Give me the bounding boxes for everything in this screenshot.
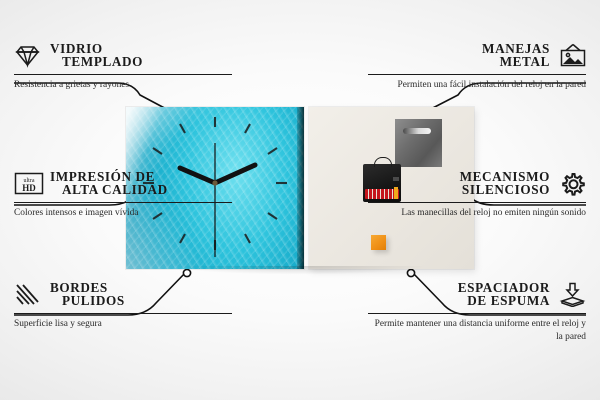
divider <box>14 202 232 203</box>
divider <box>368 313 586 314</box>
feature-vidrio: VIDRIO TEMPLADO Resistencia a grietas y … <box>14 42 232 92</box>
picture-frame-icon <box>559 43 586 68</box>
feature-title-line1: IMPRESIÓN DE <box>50 170 155 183</box>
feature-title-line2: SILENCIOSO <box>462 183 550 196</box>
feature-title-line1: BORDES <box>50 281 108 294</box>
feature-title-line1: MANEJAS <box>482 42 550 55</box>
gear-icon <box>559 171 586 196</box>
foam-spacer <box>371 235 386 250</box>
divider <box>14 74 232 75</box>
diamond-icon <box>14 43 41 68</box>
feature-espaciador: ESPACIADOR DE ESPUMA Permite mantener un… <box>368 281 586 343</box>
feature-description: Resistencia a grietas y rayones <box>14 79 232 91</box>
feature-description: Superficie lisa y segura <box>14 318 232 330</box>
feature-manejas: MANEJAS METAL Permiten una fácil instala… <box>368 42 586 92</box>
polished-edges-icon <box>14 282 41 307</box>
feature-title-line1: ESPACIADOR <box>458 281 550 294</box>
foam-spacer-icon <box>559 282 586 307</box>
movement-loop <box>374 157 392 167</box>
feature-title-line2: METAL <box>500 55 550 68</box>
feature-description: Permite mantener una distancia uniforme … <box>368 318 586 343</box>
feature-title-line1: MECANISMO <box>460 170 550 183</box>
divider <box>368 202 586 203</box>
divider <box>368 74 586 75</box>
feature-title-line2: PULIDOS <box>50 294 125 307</box>
feature-description: Colores intensos e imagen vívida <box>14 207 232 219</box>
feature-title-line2: TEMPLADO <box>50 55 143 68</box>
feature-title-line2: DE ESPUMA <box>467 294 550 307</box>
feature-title-line1: VIDRIO <box>50 42 103 55</box>
feature-mecanismo: MECANISMO SILENCIOSO Las manecillas del … <box>368 170 586 220</box>
feature-description: Las manecillas del reloj no emiten ningú… <box>368 207 586 219</box>
svg-text:HD: HD <box>22 183 36 193</box>
feature-bordes: BORDES PULIDOS Superficie lisa y segura <box>14 281 232 331</box>
feature-title-line2: ALTA CALIDAD <box>50 183 168 196</box>
feature-impresion: ultra HD IMPRESIÓN DE ALTA CALIDAD Color… <box>14 170 232 220</box>
dial-edge-shadow <box>297 107 304 269</box>
product-shadow <box>126 266 476 278</box>
feature-description: Permiten una fácil instalación del reloj… <box>368 79 586 91</box>
hanger-slot <box>403 128 431 134</box>
metal-hanger-plate <box>395 119 442 167</box>
infographic-canvas: VIDRIO TEMPLADO Resistencia a grietas y … <box>0 0 600 400</box>
divider <box>14 313 232 314</box>
ultra-hd-icon: ultra HD <box>14 171 41 196</box>
